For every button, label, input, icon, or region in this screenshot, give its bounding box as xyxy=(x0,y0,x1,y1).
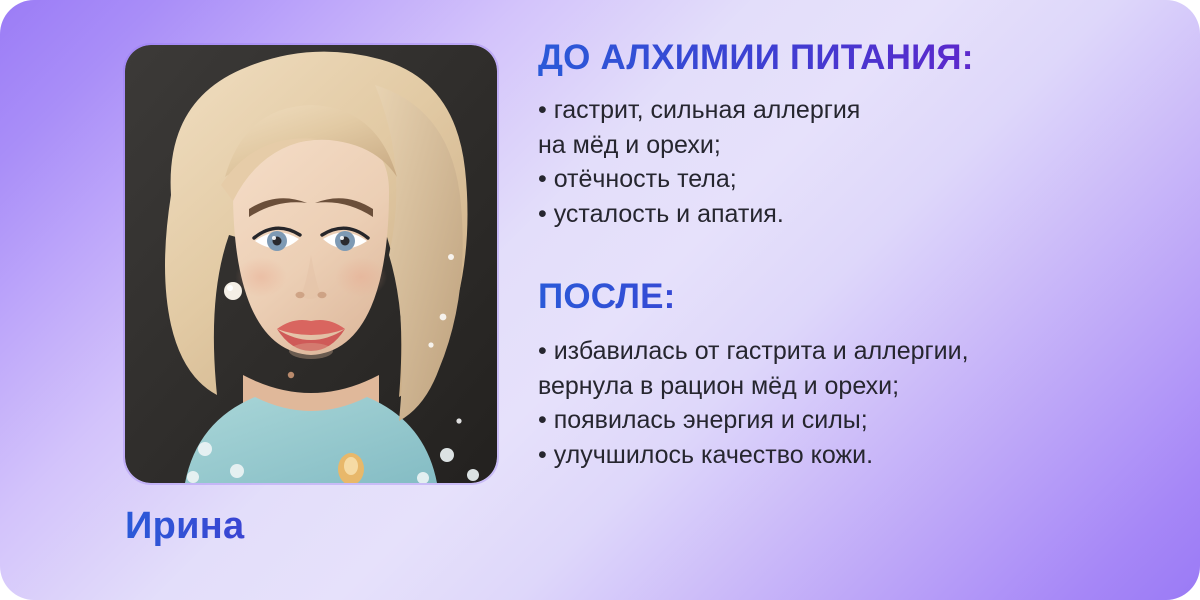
list-item: • гастрит, сильная аллергия на мёд и оре… xyxy=(538,93,1138,162)
heading-before: ДО АЛХИМИИ ПИТАНИЯ: xyxy=(538,38,1138,77)
photo-column: Ирина xyxy=(0,0,520,600)
list-item: • отёчность тела; xyxy=(538,162,1138,197)
heading-after: ПОСЛЕ: xyxy=(538,277,1138,316)
before-list: • гастрит, сильная аллергия на мёд и оре… xyxy=(538,93,1138,231)
section-after: ПОСЛЕ: • избавилась от гастрита и аллерг… xyxy=(538,277,1138,472)
portrait-photo xyxy=(125,45,497,483)
person-name: Ирина xyxy=(125,505,497,548)
list-item: • появилась энергия и силы; xyxy=(538,403,1138,438)
after-list: • избавилась от гастрита и аллергии, вер… xyxy=(538,334,1138,472)
list-item: • улучшилось качество кожи. xyxy=(538,438,1138,473)
testimonial-card: Ирина ДО АЛХИМИИ ПИТАНИЯ: • гастрит, сил… xyxy=(0,0,1200,600)
section-before: ДО АЛХИМИИ ПИТАНИЯ: • гастрит, сильная а… xyxy=(538,38,1138,231)
list-item: • усталость и апатия. xyxy=(538,197,1138,232)
text-column: ДО АЛХИМИИ ПИТАНИЯ: • гастрит, сильная а… xyxy=(538,38,1138,472)
list-item: • избавилась от гастрита и аллергии, вер… xyxy=(538,334,1138,403)
